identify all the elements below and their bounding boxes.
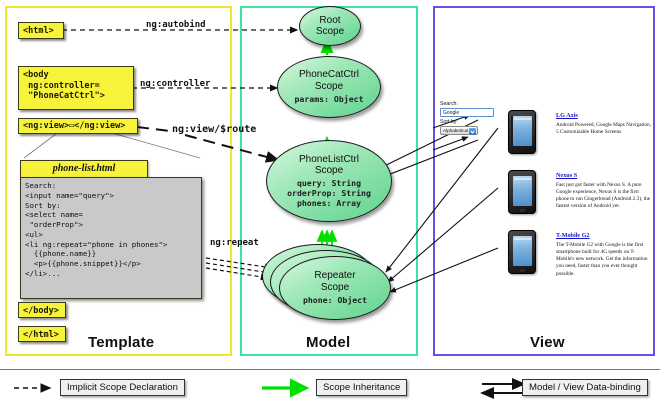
code-box-html-close: </html> <box>18 326 66 342</box>
code-box-body-close: </body> <box>18 302 66 318</box>
phone-thumbnail-1 <box>508 170 536 214</box>
phone-screen <box>513 116 532 146</box>
scope-root-title: RootScope <box>316 15 344 37</box>
column-label-model: Model <box>306 334 350 351</box>
code-box-body-open: <body ng:controller= "PhoneCatCtrl"> <box>18 66 134 110</box>
phone-desc-1: Fast just got faster with Nexus S. A pur… <box>556 182 652 211</box>
column-view <box>433 6 655 356</box>
scope-phonecatctrl: PhoneCatCtrlScope params: Object <box>277 56 381 118</box>
scope-phonecatctrl-title: PhoneCatCtrlScope <box>299 69 359 91</box>
phone-home-button-icon <box>520 269 525 272</box>
phone-desc-0: Android Powered, Google Maps Navigation,… <box>556 122 652 136</box>
legend: Implicit Scope Declaration Scope Inherit… <box>0 369 660 406</box>
partial-filename: phone-list.html <box>20 160 148 178</box>
phone-screen <box>513 176 532 206</box>
scope-phonelistctrl: PhoneListCtrlScope query: String orderPr… <box>266 140 392 222</box>
phone-screen <box>513 236 532 266</box>
chevron-down-icon <box>469 128 476 135</box>
phone-title-0[interactable]: LG Axis <box>556 112 578 119</box>
legend-item-model-view-data-binding: Model / View Data-binding <box>522 379 648 396</box>
search-input[interactable]: Google <box>440 108 494 117</box>
scope-root: RootScope <box>299 6 361 46</box>
edge-label-ng-autobind: ng:autobind <box>146 20 206 30</box>
code-box-html-open: <html> <box>18 22 64 39</box>
phone-thumbnail-2 <box>508 230 536 274</box>
partial-code: Search: <input name="query"> Sort by: <s… <box>20 177 202 299</box>
phone-home-button-icon <box>520 209 525 212</box>
phone-thumbnail-0 <box>508 110 536 154</box>
diagram-canvas: Template Model View <box>0 0 660 405</box>
scope-phonelistctrl-title: PhoneListCtrlScope <box>299 154 359 176</box>
template-partial-card: phone-list.html Search: <input name="que… <box>20 160 202 300</box>
scope-repeater-title: RepeaterScope <box>314 270 355 292</box>
edge-label-ng-repeat: ng:repeat <box>210 238 259 248</box>
column-label-template: Template <box>88 334 154 351</box>
sort-select-value: Alphabetical <box>443 128 468 133</box>
scope-phonecatctrl-props: params: Object <box>294 95 363 105</box>
view-search-label: Search: <box>440 101 458 107</box>
sort-select[interactable]: Alphabetical <box>440 126 478 135</box>
code-box-ng-view: <ng:view>▭</ng:view> <box>18 118 138 134</box>
column-label-view: View <box>530 334 565 351</box>
edge-label-ng-view-route: ng:view/$route <box>172 124 256 135</box>
phone-title-1[interactable]: Nexus S <box>556 172 577 179</box>
scope-repeater-props: phone: Object <box>303 296 367 306</box>
edge-label-ng-controller: ng:controller <box>140 79 210 89</box>
scope-phonelistctrl-props: query: String orderProp: String phones: … <box>287 179 371 209</box>
scope-repeater: RepeaterScope phone: Object <box>279 256 391 320</box>
phone-title-2[interactable]: T-Mobile G2 <box>556 232 590 239</box>
legend-item-scope-inheritance: Scope Inheritance <box>316 379 407 396</box>
phone-desc-2: The T-Mobile G2 with Google is the first… <box>556 242 652 278</box>
legend-item-implicit-scope-declaration: Implicit Scope Declaration <box>60 379 185 396</box>
view-sort-label: Sort by: <box>440 119 458 125</box>
